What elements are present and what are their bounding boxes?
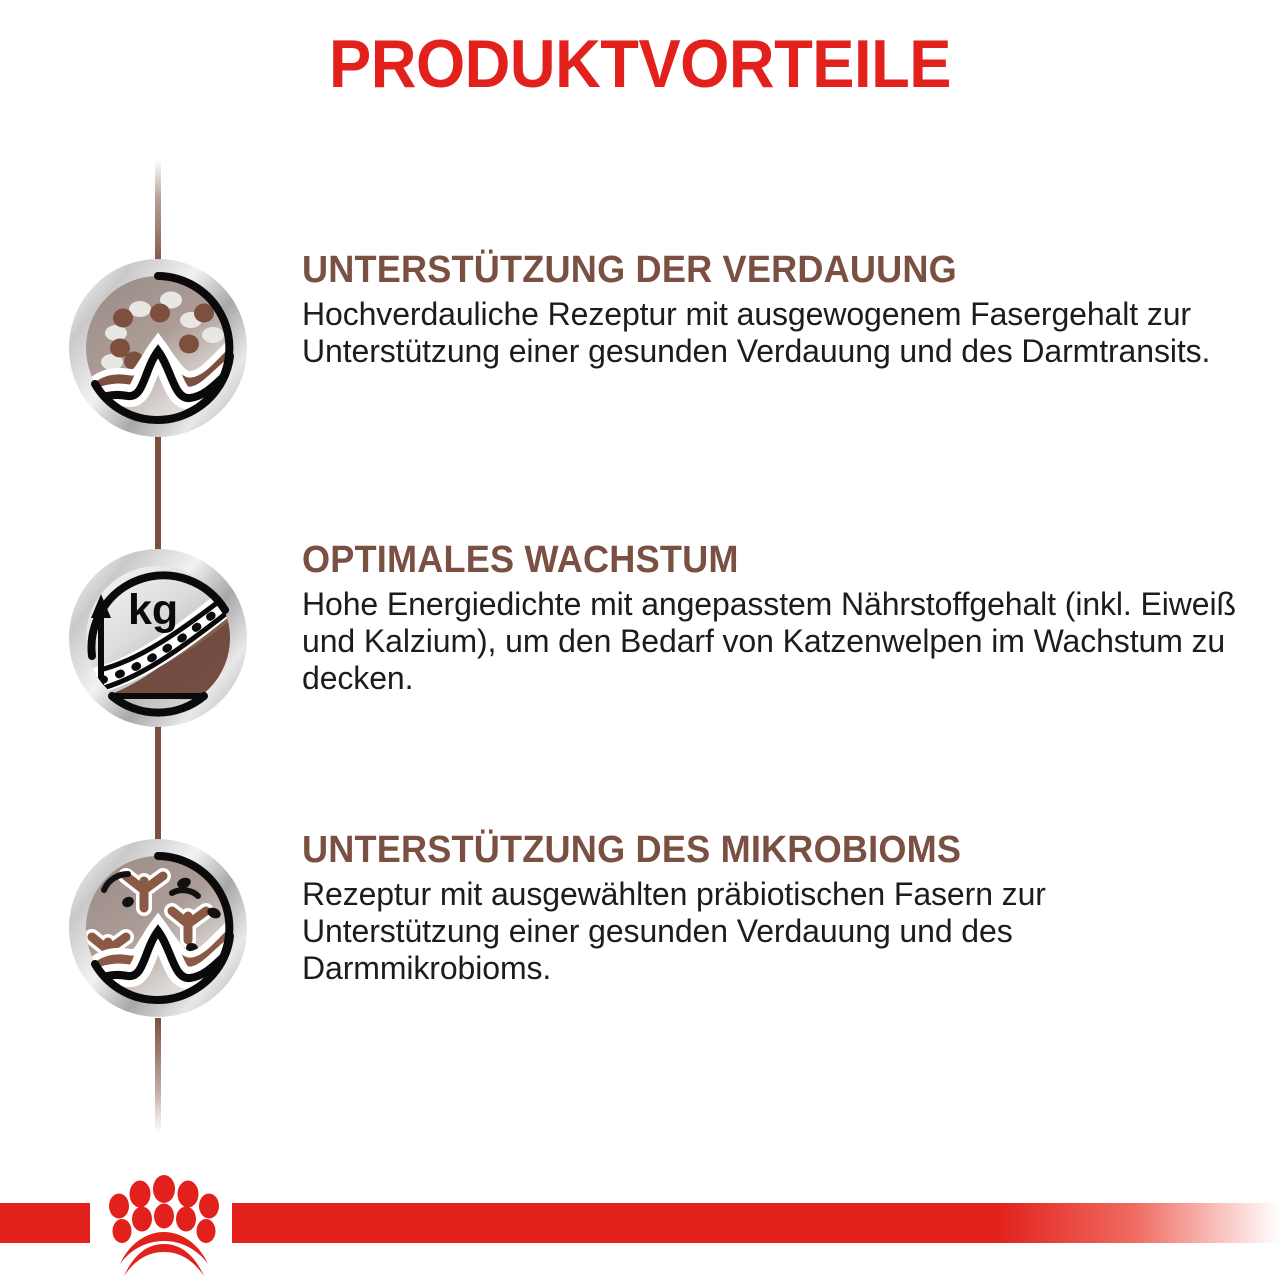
benefit-text-block: UNTERSTÜTZUNG DES MIKROBIOMS Rezeptur mi… [302,828,1252,987]
benefit-heading: UNTERSTÜTZUNG DES MIKROBIOMS [302,828,1205,872]
digestive-support-icon [68,258,248,438]
footer-bar-right-segment [232,1203,1280,1243]
footer-brand-bar [0,1180,1280,1280]
footer-bar-left-segment [0,1203,90,1243]
benefit-text-block: OPTIMALES WACHSTUM Hohe Energiedichte mi… [302,538,1252,697]
connector-rail-bottom [155,1018,161,1133]
benefit-body: Hohe Energiedichte mit angepasstem Nährs… [302,586,1252,697]
benefit-body: Rezeptur mit ausgewählten präbiotischen … [302,876,1252,987]
benefit-heading: OPTIMALES WACHSTUM [302,538,1205,582]
optimal-growth-icon: kg [68,548,248,728]
benefit-body: Hochverdauliche Rezeptur mit ausgewogene… [302,296,1252,370]
benefit-heading: UNTERSTÜTZUNG DER VERDAUUNG [302,248,1205,292]
benefit-item: kg OPTIMALES WACHSTUM Hohe Energiedichte… [0,538,1280,738]
kg-unit-label: kg [128,586,178,634]
page-title: PRODUKTVORTEILE [45,26,1235,102]
royal-canin-crown-logo [88,1172,238,1280]
benefit-item: UNTERSTÜTZUNG DES MIKROBIOMS Rezeptur mi… [0,828,1280,1028]
benefit-item: UNTERSTÜTZUNG DER VERDAUUNG Hochverdauli… [0,248,1280,448]
microbiome-support-icon [68,838,248,1018]
benefit-text-block: UNTERSTÜTZUNG DER VERDAUUNG Hochverdauli… [302,248,1252,370]
product-benefits-page: PRODUKTVORTEILE [0,0,1280,1280]
